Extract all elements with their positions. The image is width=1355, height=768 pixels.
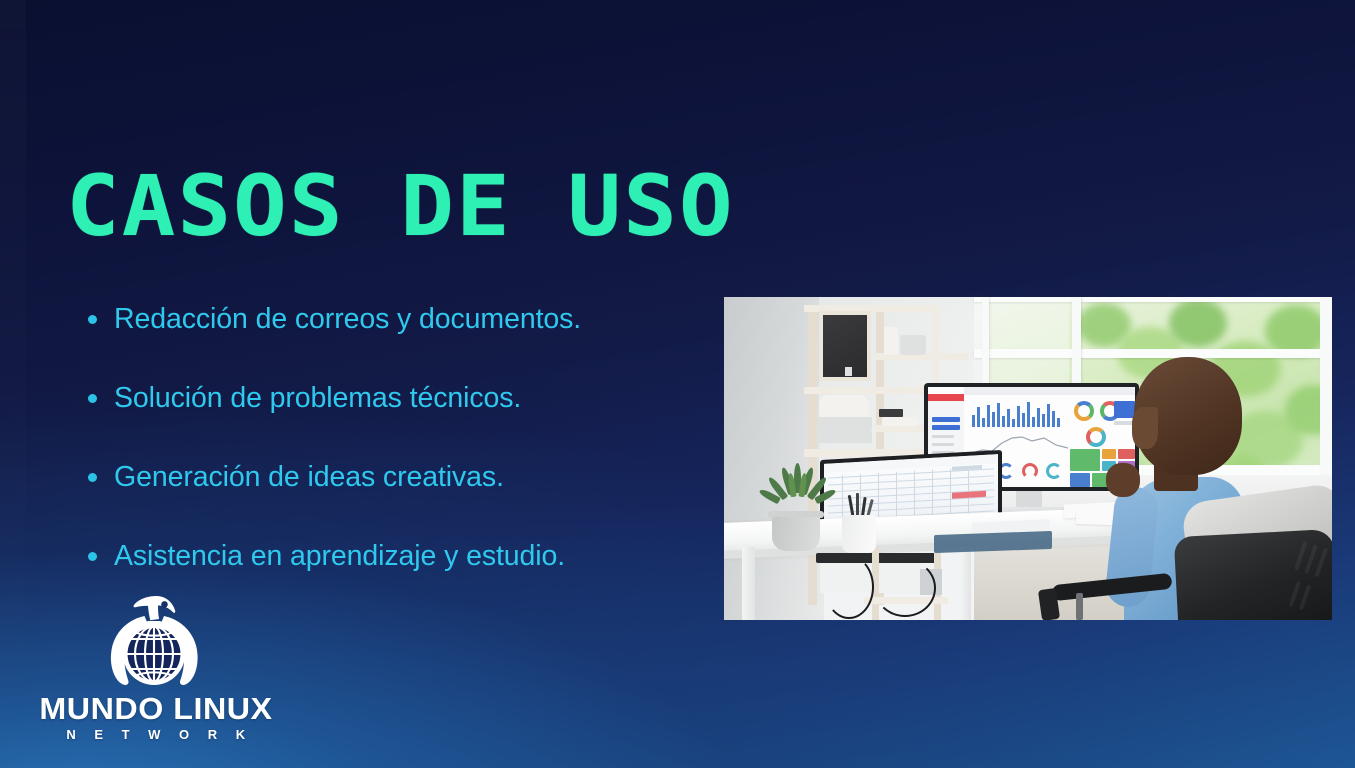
photo-plant-pot xyxy=(772,517,820,551)
list-item-label: Generación de ideas creativas. xyxy=(114,460,504,494)
list-item-label: Redacción de correos y documentos. xyxy=(114,302,581,336)
bullet-dot-icon xyxy=(88,394,97,403)
office-photo xyxy=(724,297,1332,620)
bullet-dot-icon xyxy=(88,315,97,324)
photo-desk-leg xyxy=(960,547,971,620)
photo-window-frame xyxy=(974,297,1332,302)
photo-chair-post xyxy=(1076,593,1083,620)
brand-logo: MUNDO LINUX N E T W O R K xyxy=(38,592,274,744)
photo-gauge xyxy=(1022,463,1038,479)
photo-window-frame xyxy=(1320,297,1332,485)
list-item: Asistencia en aprendizaje y estudio. xyxy=(88,539,708,573)
list-item: Generación de ideas creativas. xyxy=(88,460,708,494)
photo-person-ear xyxy=(1132,407,1158,449)
photo-gauge xyxy=(1046,463,1062,479)
page-title: CASOS DE USO xyxy=(66,160,735,252)
slide: CASOS DE USO Redacción de correos y docu… xyxy=(0,0,1355,768)
photo-cable xyxy=(874,559,936,617)
photo-shelf-item xyxy=(900,335,926,355)
photo-donut-chart xyxy=(1086,427,1106,447)
photo-shelf-item xyxy=(817,417,872,431)
photo-shelf-item xyxy=(817,431,872,443)
list-item-label: Asistencia en aprendizaje y estudio. xyxy=(114,539,565,573)
photo-shelf-item xyxy=(882,417,918,426)
photo-donut-chart xyxy=(1074,401,1094,421)
photo-pen-cup xyxy=(842,515,876,553)
photo-window-frame xyxy=(974,349,1332,358)
logo-subtitle: N E T W O R K xyxy=(38,726,274,744)
list-item-label: Solución de problemas técnicos. xyxy=(114,381,521,415)
photo-shelf-item xyxy=(879,409,903,417)
photo-desk-leg xyxy=(742,547,755,620)
photo-shelf-board xyxy=(804,387,934,394)
photo-person-hand xyxy=(1106,463,1140,497)
penguin-globe-icon xyxy=(38,592,274,692)
photo-cable xyxy=(824,555,874,619)
photo-shelf-item xyxy=(819,395,869,417)
photo-dashboard-header xyxy=(928,394,964,401)
list-item: Redacción de correos y documentos. xyxy=(88,302,708,336)
use-cases-list: Redacción de correos y documentos. Soluc… xyxy=(88,302,708,618)
logo-name: MUNDO LINUX xyxy=(33,692,278,726)
list-item: Solución de problemas técnicos. xyxy=(88,381,708,415)
photo-bar-chart xyxy=(972,401,1066,427)
left-edge-band xyxy=(0,0,26,768)
bullet-dot-icon xyxy=(88,473,97,482)
bullet-dot-icon xyxy=(88,552,97,561)
photo-shelf-item xyxy=(884,327,898,355)
photo-dark-panel xyxy=(819,311,871,381)
photo-chair-back xyxy=(1174,529,1332,620)
